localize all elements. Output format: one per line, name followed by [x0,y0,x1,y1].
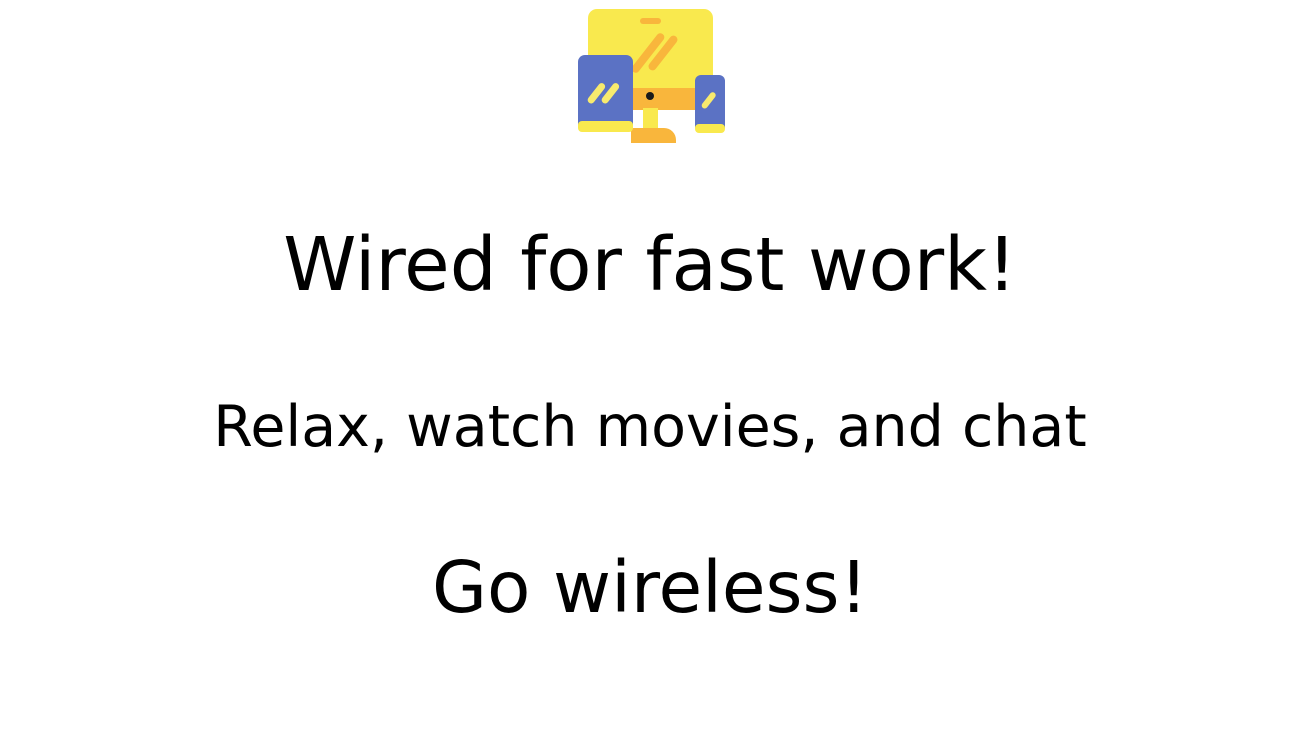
subtitle-text: Relax, watch movies, and chat [0,399,1300,456]
tagline-text: Go wireless! [0,552,1300,623]
slide-canvas: Wired for fast work! Relax, watch movies… [0,0,1300,750]
page-title: Wired for fast work! [0,228,1300,302]
text-block: Wired for fast work! Relax, watch movies… [0,0,1300,750]
